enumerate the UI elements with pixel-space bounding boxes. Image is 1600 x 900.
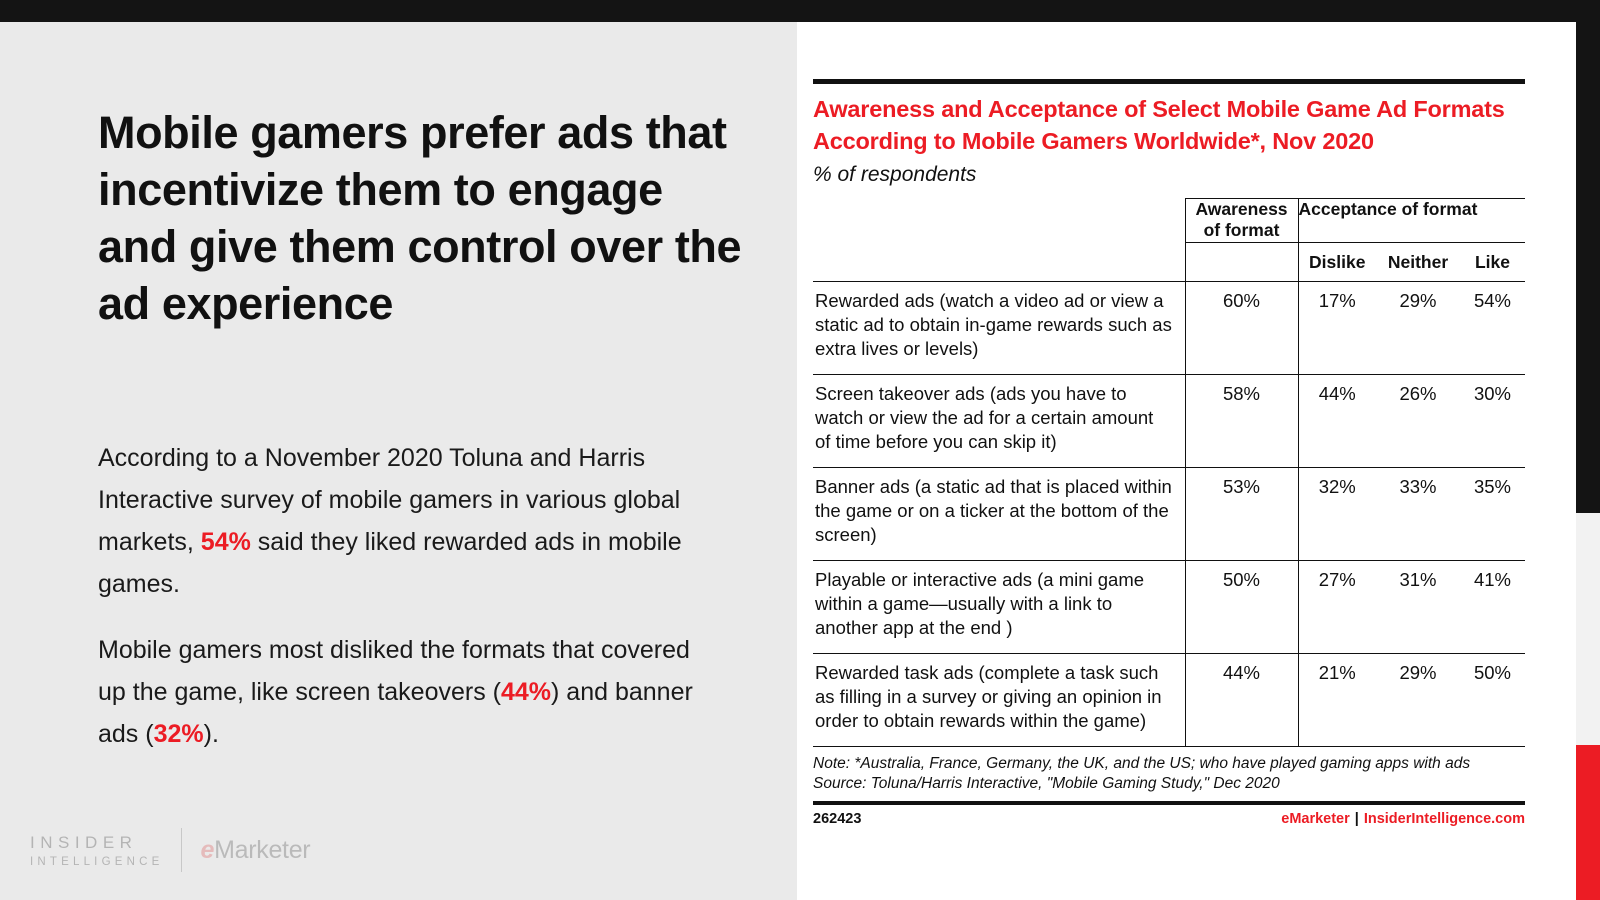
row-neither-value: 31%: [1376, 561, 1460, 654]
logo-divider: [181, 828, 182, 872]
row-label: Rewarded ads (watch a video ad or view a…: [813, 281, 1185, 374]
edge-block-gray: [1576, 513, 1600, 745]
chart-footer: 262423 eMarketer|InsiderIntelligence.com: [813, 811, 1525, 827]
emarketer-logo-rest: Marketer: [214, 836, 310, 864]
row-awareness-value: 44%: [1185, 654, 1298, 747]
subheader-blank-cell: [813, 242, 1185, 281]
row-neither-value: 29%: [1376, 654, 1460, 747]
row-dislike-value: 27%: [1298, 561, 1376, 654]
row-awareness-value: 53%: [1185, 467, 1298, 560]
stat-highlight-32: 32%: [154, 720, 204, 748]
chart-top-rule: [813, 79, 1525, 84]
left-content-panel: Mobile gamers prefer ads that incentiviz…: [0, 22, 797, 900]
chart-subtitle: % of respondents: [813, 163, 1525, 187]
insider-logo-line-2: INTELLIGENCE: [30, 856, 163, 868]
emarketer-logo: eMarketer: [200, 836, 310, 865]
stat-highlight-54: 54%: [201, 528, 251, 556]
row-dislike-value: 17%: [1298, 281, 1376, 374]
row-label: Playable or interactive ads (a mini game…: [813, 561, 1185, 654]
row-neither-value: 26%: [1376, 374, 1460, 467]
row-awareness-value: 60%: [1185, 281, 1298, 374]
brand-separator: |: [1355, 811, 1359, 827]
table-row: Screen takeover ads (ads you have to wat…: [813, 374, 1525, 467]
top-black-bar: [0, 0, 1576, 22]
row-label: Rewarded task ads (complete a task such …: [813, 654, 1185, 747]
table-row: Rewarded ads (watch a video ad or view a…: [813, 281, 1525, 374]
row-neither-value: 29%: [1376, 281, 1460, 374]
table-sub-header-row: Dislike Neither Like: [813, 242, 1525, 281]
brand-attribution: eMarketer|InsiderIntelligence.com: [1281, 811, 1525, 827]
row-like-value: 41%: [1460, 561, 1525, 654]
row-neither-value: 33%: [1376, 467, 1460, 560]
paragraph-2-text-c: ).: [204, 720, 219, 748]
slide: Mobile gamers prefer ads that incentiviz…: [0, 0, 1600, 900]
header-awareness-of-format: Awareness of format: [1185, 198, 1298, 242]
right-chart-panel: Awareness and Acceptance of Select Mobil…: [797, 22, 1576, 900]
brand-emarketer: eMarketer: [1281, 811, 1350, 827]
insider-intelligence-logo: INSIDER INTELLIGENCE: [30, 833, 163, 868]
row-dislike-value: 21%: [1298, 654, 1376, 747]
subheader-dislike: Dislike: [1298, 242, 1376, 281]
chart-notes: Note: *Australia, France, Germany, the U…: [813, 754, 1525, 794]
table-group-header-row: Awareness of format Acceptance of format: [813, 198, 1525, 242]
chart-id: 262423: [813, 811, 861, 827]
header-acceptance-of-format: Acceptance of format: [1298, 198, 1525, 242]
subheader-neither: Neither: [1376, 242, 1460, 281]
body-copy: According to a November 2020 Toluna and …: [98, 437, 718, 779]
table-row: Banner ads (a static ad that is placed w…: [813, 467, 1525, 560]
row-like-value: 30%: [1460, 374, 1525, 467]
row-awareness-value: 58%: [1185, 374, 1298, 467]
chart-note: Note: *Australia, France, Germany, the U…: [813, 754, 1525, 774]
row-awareness-value: 50%: [1185, 561, 1298, 654]
edge-block-black: [1576, 0, 1600, 513]
edge-block-red: [1576, 745, 1600, 900]
chart-container: Awareness and Acceptance of Select Mobil…: [813, 79, 1525, 827]
stat-highlight-44: 44%: [501, 678, 551, 706]
row-label: Banner ads (a static ad that is placed w…: [813, 467, 1185, 560]
insider-logo-line-1: INSIDER: [30, 833, 163, 853]
chart-title: Awareness and Acceptance of Select Mobil…: [813, 94, 1525, 158]
page-title: Mobile gamers prefer ads that incentiviz…: [98, 104, 748, 333]
data-table: Awareness of format Acceptance of format…: [813, 198, 1525, 747]
row-label: Screen takeover ads (ads you have to wat…: [813, 374, 1185, 467]
chart-source: Source: Toluna/Harris Interactive, "Mobi…: [813, 774, 1525, 794]
brand-insider-intelligence-url[interactable]: InsiderIntelligence.com: [1364, 811, 1525, 827]
paragraph-2: Mobile gamers most disliked the formats …: [98, 629, 718, 755]
chart-bottom-rule: [813, 801, 1525, 805]
subheader-like: Like: [1460, 242, 1525, 281]
row-like-value: 54%: [1460, 281, 1525, 374]
insider-intelligence-emarketer-logo: INSIDER INTELLIGENCE eMarketer: [30, 828, 310, 872]
paragraph-1: According to a November 2020 Toluna and …: [98, 437, 718, 605]
header-blank-cell: [813, 198, 1185, 242]
table-row: Rewarded task ads (complete a task such …: [813, 654, 1525, 747]
row-like-value: 35%: [1460, 467, 1525, 560]
row-dislike-value: 44%: [1298, 374, 1376, 467]
row-dislike-value: 32%: [1298, 467, 1376, 560]
right-edge-strip: [1576, 0, 1600, 900]
table-row: Playable or interactive ads (a mini game…: [813, 561, 1525, 654]
emarketer-logo-e: e: [200, 836, 214, 864]
subheader-awareness-blank: [1185, 242, 1298, 281]
row-like-value: 50%: [1460, 654, 1525, 747]
